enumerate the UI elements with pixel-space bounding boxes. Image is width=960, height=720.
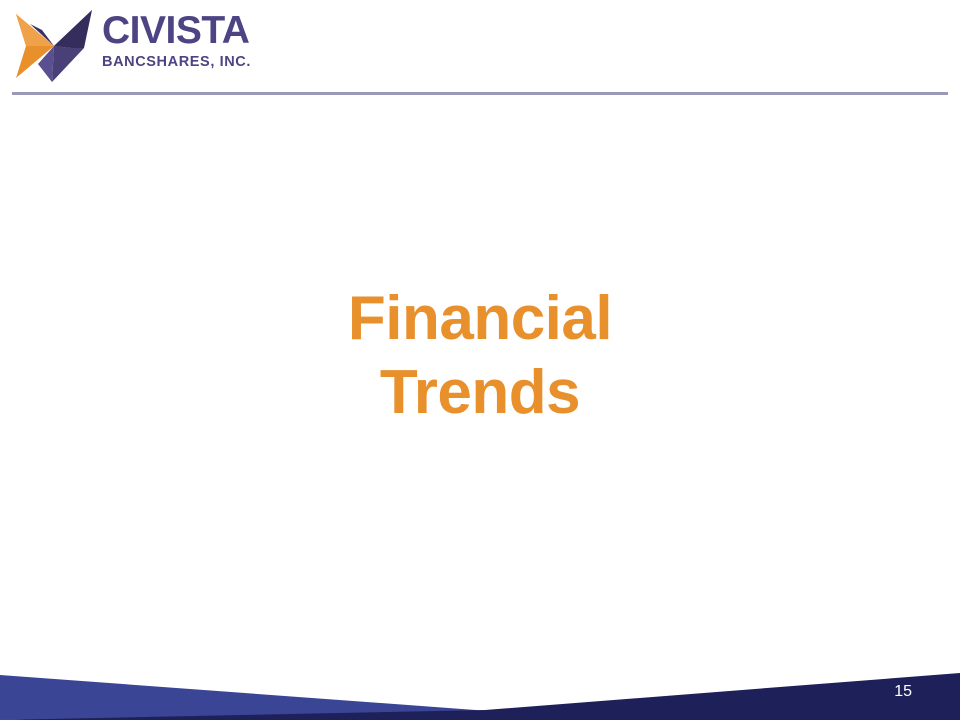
- slide-title-line-1: Financial: [140, 282, 820, 356]
- civista-star-mark-icon: [12, 8, 96, 84]
- brand-name: CIVISTA: [102, 10, 262, 52]
- slide-title-line-2: Trends: [140, 356, 820, 430]
- header-divider: [12, 92, 948, 95]
- civista-logo: CIVISTA BANCSHARES, INC.: [10, 4, 260, 84]
- presentation-slide: CIVISTA BANCSHARES, INC. Financial Trend…: [0, 0, 960, 720]
- brand-subtitle: BANCSHARES, INC.: [102, 53, 262, 71]
- footer-decoration: 15: [0, 640, 960, 720]
- slide-title: Financial Trends: [140, 282, 820, 430]
- civista-wordmark: CIVISTA BANCSHARES, INC.: [102, 10, 262, 71]
- page-number: 15: [894, 683, 912, 701]
